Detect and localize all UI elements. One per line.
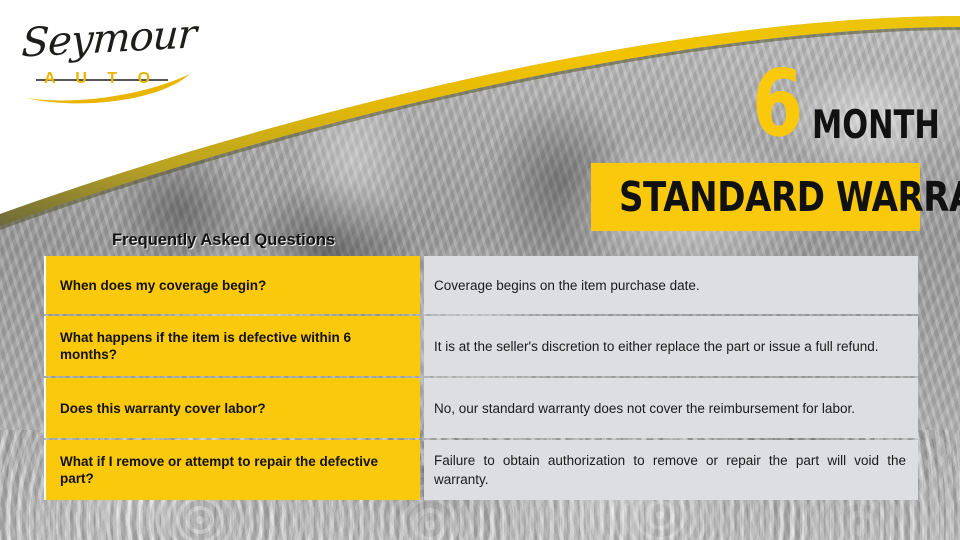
faq-answer-text: It is at the seller's discretion to eith… bbox=[434, 337, 906, 356]
faq-heading: Frequently Asked Questions bbox=[112, 231, 335, 250]
brand-logo: Seymour A U T O bbox=[18, 14, 208, 106]
faq-question-cell: Does this warranty cover labor? bbox=[44, 378, 420, 438]
faq-row: What happens if the item is defective wi… bbox=[44, 316, 918, 376]
brand-subtitle: A U T O bbox=[44, 70, 158, 88]
faq-row: What if I remove or attempt to repair th… bbox=[44, 440, 918, 500]
faq-question-cell: When does my coverage begin? bbox=[44, 256, 420, 314]
faq-answer-cell: Coverage begins on the item purchase dat… bbox=[424, 256, 918, 314]
faq-row: Does this warranty cover labor? No, our … bbox=[44, 378, 918, 438]
faq-row: When does my coverage begin? Coverage be… bbox=[44, 256, 918, 314]
faq-question-text: What if I remove or attempt to repair th… bbox=[60, 453, 406, 487]
warranty-duration-number: 6 bbox=[752, 58, 802, 150]
faq-answer-text: Coverage begins on the item purchase dat… bbox=[434, 276, 906, 295]
faq-answer-text: No, our standard warranty does not cover… bbox=[434, 399, 906, 418]
faq-question-cell: What happens if the item is defective wi… bbox=[44, 316, 420, 376]
warranty-banner-text: STANDARD WARRANTY bbox=[619, 173, 892, 221]
faq-answer-cell: Failure to obtain authorization to remov… bbox=[424, 440, 918, 500]
faq-question-text: Does this warranty cover labor? bbox=[60, 400, 266, 417]
warranty-duration-unit: MONTH bbox=[812, 106, 940, 145]
faq-question-text: When does my coverage begin? bbox=[60, 277, 266, 294]
faq-table: When does my coverage begin? Coverage be… bbox=[44, 256, 918, 500]
warranty-banner: STANDARD WARRANTY bbox=[591, 163, 920, 231]
faq-question-cell: What if I remove or attempt to repair th… bbox=[44, 440, 420, 500]
faq-answer-text: Failure to obtain authorization to remov… bbox=[434, 451, 906, 489]
faq-answer-cell: No, our standard warranty does not cover… bbox=[424, 378, 918, 438]
brand-name: Seymour bbox=[20, 11, 197, 66]
faq-answer-cell: It is at the seller's discretion to eith… bbox=[424, 316, 918, 376]
warranty-slide: Seymour A U T O 6 MONTH STANDARD WARRANT… bbox=[0, 0, 960, 540]
faq-question-text: What happens if the item is defective wi… bbox=[60, 329, 406, 363]
